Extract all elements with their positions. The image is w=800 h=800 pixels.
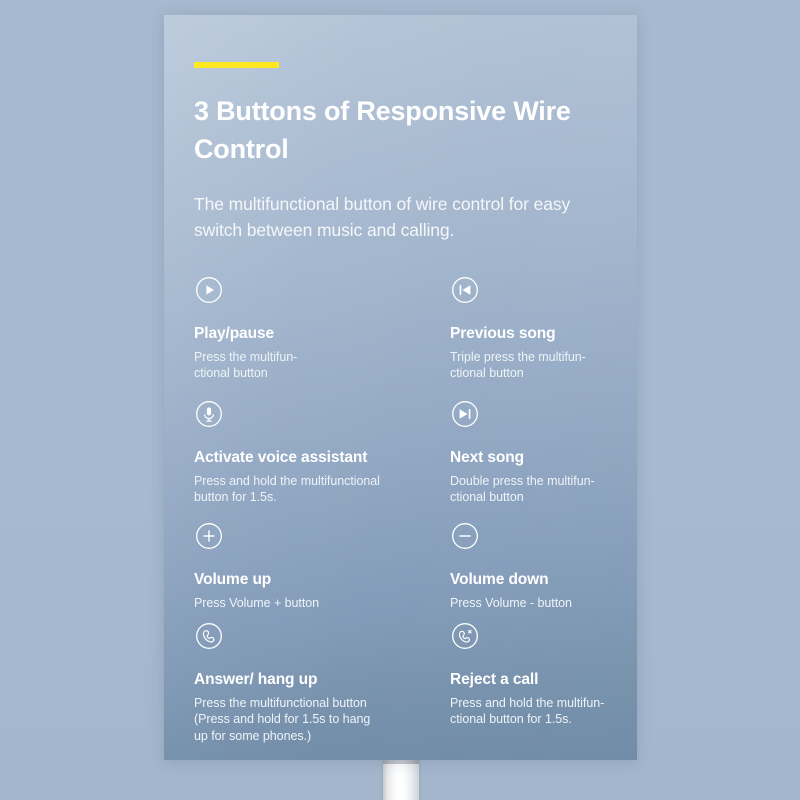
poster-scene: 3 Buttons of Responsive Wire Control The… — [0, 0, 800, 800]
feature-voice-assistant: Activate voice assistant Press and hold … — [194, 399, 450, 521]
minus-circle-icon — [450, 521, 480, 551]
feature-reject-call: Reject a call Press and hold the multifu… — [450, 621, 624, 747]
phone-reject-icon — [450, 621, 480, 651]
feature-title: Volume down — [450, 571, 624, 590]
feature-volume-down: Volume down Press Volume - button — [450, 521, 624, 621]
earphone-stem — [383, 757, 419, 800]
page-subtitle: The multifunctional button of wire contr… — [194, 191, 614, 244]
feature-next-song: Next song Double press the multifun- cti… — [450, 399, 624, 521]
feature-description: Press Volume + button — [194, 595, 450, 612]
feature-description: Press Volume - button — [450, 595, 624, 612]
feature-description: Press the multifunctional button (Press … — [194, 695, 450, 745]
play-pause-icon — [194, 275, 224, 305]
next-song-icon — [450, 399, 480, 429]
feature-card: 3 Buttons of Responsive Wire Control The… — [164, 15, 637, 760]
feature-title: Previous song — [450, 325, 624, 344]
feature-play-pause: Play/pause Press the multifun- cti­onal … — [194, 275, 450, 399]
feature-title: Play/pause — [194, 325, 450, 344]
feature-title: Activate voice assistant — [194, 449, 450, 468]
feature-description: Triple press the multifun- ctional butto… — [450, 349, 624, 382]
feature-grid: Play/pause Press the multifun- cti­onal … — [194, 275, 624, 747]
phone-answer-icon — [194, 621, 224, 651]
plus-circle-icon — [194, 521, 224, 551]
microphone-icon — [194, 399, 224, 429]
feature-description: Press the multifun- cti­onal button — [194, 349, 450, 382]
feature-previous-song: Previous song Triple press the multifun-… — [450, 275, 624, 399]
feature-description: Press and hold the multifun- ctional but… — [450, 695, 624, 728]
feature-description: Press and hold the multifunctional butto… — [194, 473, 450, 506]
feature-title: Answer/ hang up — [194, 671, 450, 690]
previous-song-icon — [450, 275, 480, 305]
feature-title: Volume up — [194, 571, 450, 590]
feature-description: Double press the multifun- ctional butto… — [450, 473, 624, 506]
feature-title: Next song — [450, 449, 624, 468]
feature-title: Reject a call — [450, 671, 624, 690]
feature-volume-up: Volume up Press Volume + button — [194, 521, 450, 621]
page-title: 3 Buttons of Responsive Wire Control — [194, 92, 584, 169]
feature-answer-hangup: Answer/ hang up Press the multifunctiona… — [194, 621, 450, 747]
accent-bar — [194, 62, 279, 68]
